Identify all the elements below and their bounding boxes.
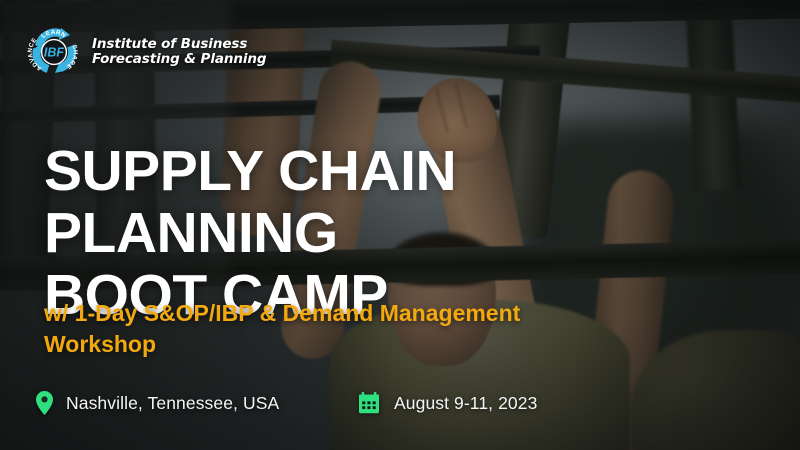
brand-lockup[interactable]: LEARN SHARE ADVANCE IBF Institute of Bus… [26,24,267,80]
event-dates-text: August 9-11, 2023 [394,393,537,414]
event-dates: August 9-11, 2023 [358,392,537,414]
event-location-text: Nashville, Tennessee, USA [66,393,279,414]
event-location: Nashville, Tennessee, USA [36,391,358,415]
ibf-circular-logo-icon: LEARN SHARE ADVANCE IBF [26,24,82,80]
calendar-icon [358,392,384,414]
svg-text:SHARE: SHARE [65,44,79,70]
event-banner: LEARN SHARE ADVANCE IBF Institute of Bus… [0,0,800,450]
page-subtitle: w/ 1-Day S&OP/IBP & Demand Management Wo… [44,298,604,360]
location-pin-icon [36,391,62,415]
banner-content: LEARN SHARE ADVANCE IBF Institute of Bus… [0,0,800,450]
logo-monogram: IBF [44,45,65,59]
event-details: Nashville, Tennessee, USA [36,391,537,415]
organization-name: Institute of Business Forecasting & Plan… [92,37,267,68]
